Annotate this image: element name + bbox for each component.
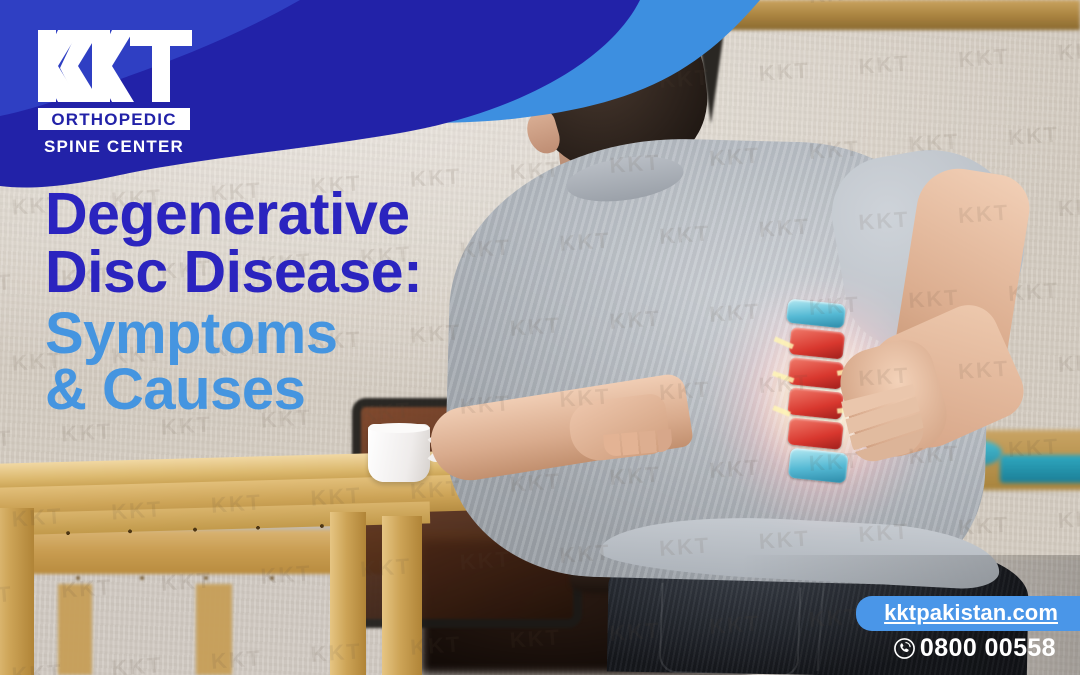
headline-line-3: Symptoms: [45, 306, 515, 363]
headline-line-2: Disc Disease:: [45, 244, 515, 302]
vertebra-2: [788, 357, 845, 389]
vertebra-1: [789, 327, 846, 359]
phone-number: 0800 00558: [920, 636, 1056, 661]
vertebra-4: [787, 417, 844, 449]
headline-line-4: & Causes: [45, 362, 515, 419]
logo-spine-center-text: SPINE CENTER: [44, 137, 184, 156]
headline: Degenerative Disc Disease: Symptoms & Ca…: [45, 186, 515, 419]
kkt-degenerative-disc-banner: KKT KKT KKT KKT KKT KKT KKT KKT KKT KKT …: [0, 0, 1080, 675]
phone-line[interactable]: 0800 00558: [856, 636, 1080, 661]
logo-kkt-mark: [38, 30, 192, 102]
logo-orthopedic-text: ORTHOPEDIC: [51, 110, 176, 129]
headline-line-1: Degenerative: [45, 186, 515, 244]
website-pill[interactable]: kktpakistan.com: [856, 596, 1080, 631]
contact-badge: kktpakistan.com 0800 00558: [856, 596, 1080, 661]
phone-circle-icon: [893, 637, 916, 660]
spinal-disc-bottom-icon: [788, 448, 849, 484]
vertebra-3: [787, 387, 844, 419]
jeans-pocket-left: [658, 583, 801, 675]
spinal-disc-top-icon: [786, 299, 846, 329]
